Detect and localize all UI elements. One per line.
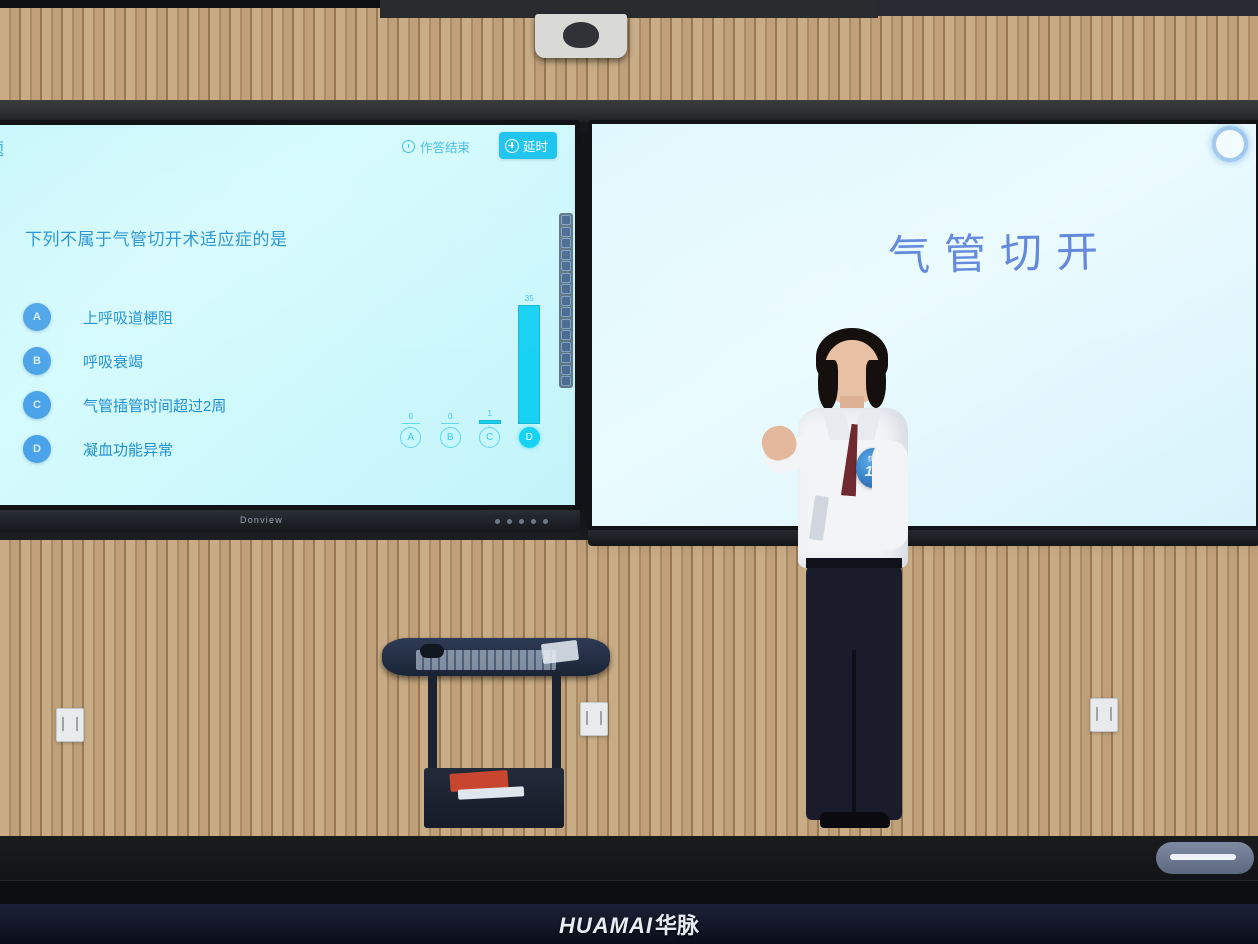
bar-fill-c [479, 420, 501, 424]
left-board-bezel [0, 510, 580, 532]
extend-time-button[interactable]: 延时 [499, 132, 557, 159]
axis-cell-c: C [470, 427, 510, 448]
board-bezel-buttons[interactable] [495, 519, 548, 524]
option-row-c[interactable]: C 气管插管时间超过2周 [23, 383, 226, 427]
bar-column-b: 0 [431, 294, 471, 424]
option-badge-a: A [23, 303, 51, 331]
wall-trim-upper [0, 100, 1258, 122]
presenter-shoes [820, 812, 890, 828]
bar-value-b: 0 [448, 412, 452, 421]
mouse[interactable] [420, 644, 444, 658]
toolbar-highlight-icon[interactable] [561, 307, 571, 317]
axis-badge-b: B [440, 427, 461, 448]
bar-fill-b [441, 423, 459, 424]
timer-icon [402, 140, 415, 153]
stage-equipment [1156, 842, 1254, 874]
option-row-a[interactable]: A 上呼吸道梗阻 [23, 295, 226, 339]
chart-axis-labels: A B C D [391, 427, 549, 448]
ceiling-soffit [380, 0, 878, 18]
option-text-b: 呼吸衰竭 [83, 351, 143, 372]
bezel-button-power[interactable] [495, 519, 500, 524]
brand-logo-latin: HUAMAI [559, 913, 653, 938]
slide-header: 题 作答结束 延时 [0, 125, 575, 169]
presenter-arm-right [872, 440, 908, 550]
question-tag: 题 [0, 135, 4, 160]
axis-cell-a: A [391, 427, 431, 448]
brand-logo-cn: 华脉 [655, 913, 699, 938]
plus-circle-icon [505, 139, 519, 153]
toolbar-undo-icon[interactable] [561, 319, 571, 329]
left-smartboard[interactable]: 题 作答结束 延时 下列不属于气管切开术适应症的是 A 上呼吸道梗阻 B [0, 120, 580, 510]
bar-value-c: 1 [488, 409, 492, 418]
wall-outlet-left [56, 708, 84, 742]
option-badge-d: D [23, 435, 51, 463]
toolbar-cursor-icon[interactable] [561, 227, 571, 237]
brand-strip: HUAMAI华脉 [0, 904, 1258, 944]
presenter-person: 参赛 19 [760, 320, 940, 880]
camera-lens-icon [1212, 126, 1248, 162]
toolbar-pen-icon[interactable] [561, 238, 571, 248]
toolbar-redo-icon[interactable] [561, 330, 571, 340]
option-text-d: 凝血功能异常 [83, 439, 173, 460]
bar-column-c: 1 [470, 294, 510, 424]
board-brand-label: Donview [240, 515, 283, 525]
projector-lens-icon [563, 22, 599, 48]
toolbar-image-icon[interactable] [561, 296, 571, 306]
answer-status-label: 作答结束 [420, 137, 470, 156]
option-text-c: 气管插管时间超过2周 [83, 395, 226, 416]
toolbar-shape-icon[interactable] [561, 261, 571, 271]
bezel-button-volume-down[interactable] [531, 519, 536, 524]
podium-cart [382, 638, 612, 818]
bar-fill-d [518, 305, 540, 424]
handwritten-title: 气管切开 [887, 218, 1112, 284]
bezel-button-volume-up[interactable] [543, 519, 548, 524]
bezel-button-menu[interactable] [507, 519, 512, 524]
bar-value-d: 35 [525, 294, 534, 303]
option-badge-b: B [23, 347, 51, 375]
axis-cell-b: B [431, 427, 471, 448]
bar-value-a: 0 [409, 412, 413, 421]
option-text-a: 上呼吸道梗阻 [83, 307, 173, 328]
ceiling-bar-right [878, 0, 1258, 16]
toolbar-more-icon[interactable] [561, 376, 571, 386]
toolbar-page-icon[interactable] [561, 365, 571, 375]
option-list: A 上呼吸道梗阻 B 呼吸衰竭 C 气管插管时间超过2周 D 凝血功能异常 [23, 295, 226, 471]
axis-cell-d: D [510, 427, 550, 448]
bar-fill-a [402, 423, 420, 424]
option-badge-c: C [23, 391, 51, 419]
axis-badge-d: D [519, 427, 540, 448]
answer-status-indicator: 作答结束 [402, 137, 470, 156]
bar-column-d: 35 [510, 294, 550, 424]
presenter-hair-left [818, 360, 838, 410]
toolbar-capture-icon[interactable] [561, 215, 571, 225]
classroom-scene: 题 作答结束 延时 下列不属于气管切开术适应症的是 A 上呼吸道梗阻 B [0, 0, 1258, 944]
toolbar-note-icon[interactable] [561, 284, 571, 294]
axis-badge-a: A [400, 427, 421, 448]
bar-column-a: 0 [391, 294, 431, 424]
presenter-leg-separation [852, 650, 856, 820]
option-row-d[interactable]: D 凝血功能异常 [23, 427, 226, 471]
quiz-slide: 题 作答结束 延时 下列不属于气管切开术适应症的是 A 上呼吸道梗阻 B [0, 125, 575, 505]
ceiling-projector-device [535, 14, 627, 58]
presenter-hair-right [866, 360, 886, 408]
presenter-belt [806, 558, 902, 568]
extend-time-label: 延时 [523, 136, 548, 155]
toolbar-eraser-icon[interactable] [561, 250, 571, 260]
answer-distribution-chart: 0 0 1 35 [391, 280, 549, 470]
bezel-button-input[interactable] [519, 519, 524, 524]
wall-outlet-right [1090, 698, 1118, 732]
floating-toolbar[interactable] [559, 213, 573, 388]
huamai-logo: HUAMAI华脉 [559, 908, 699, 940]
axis-badge-c: C [479, 427, 500, 448]
chart-bars: 0 0 1 35 [391, 294, 549, 424]
toolbar-select-icon[interactable] [561, 273, 571, 283]
wall-lower-slats [0, 540, 1258, 840]
question-text: 下列不属于气管切开术适应症的是 [25, 225, 288, 250]
toolbar-spotlight-icon[interactable] [561, 353, 571, 363]
option-row-b[interactable]: B 呼吸衰竭 [23, 339, 226, 383]
toolbar-timer-icon[interactable] [561, 342, 571, 352]
